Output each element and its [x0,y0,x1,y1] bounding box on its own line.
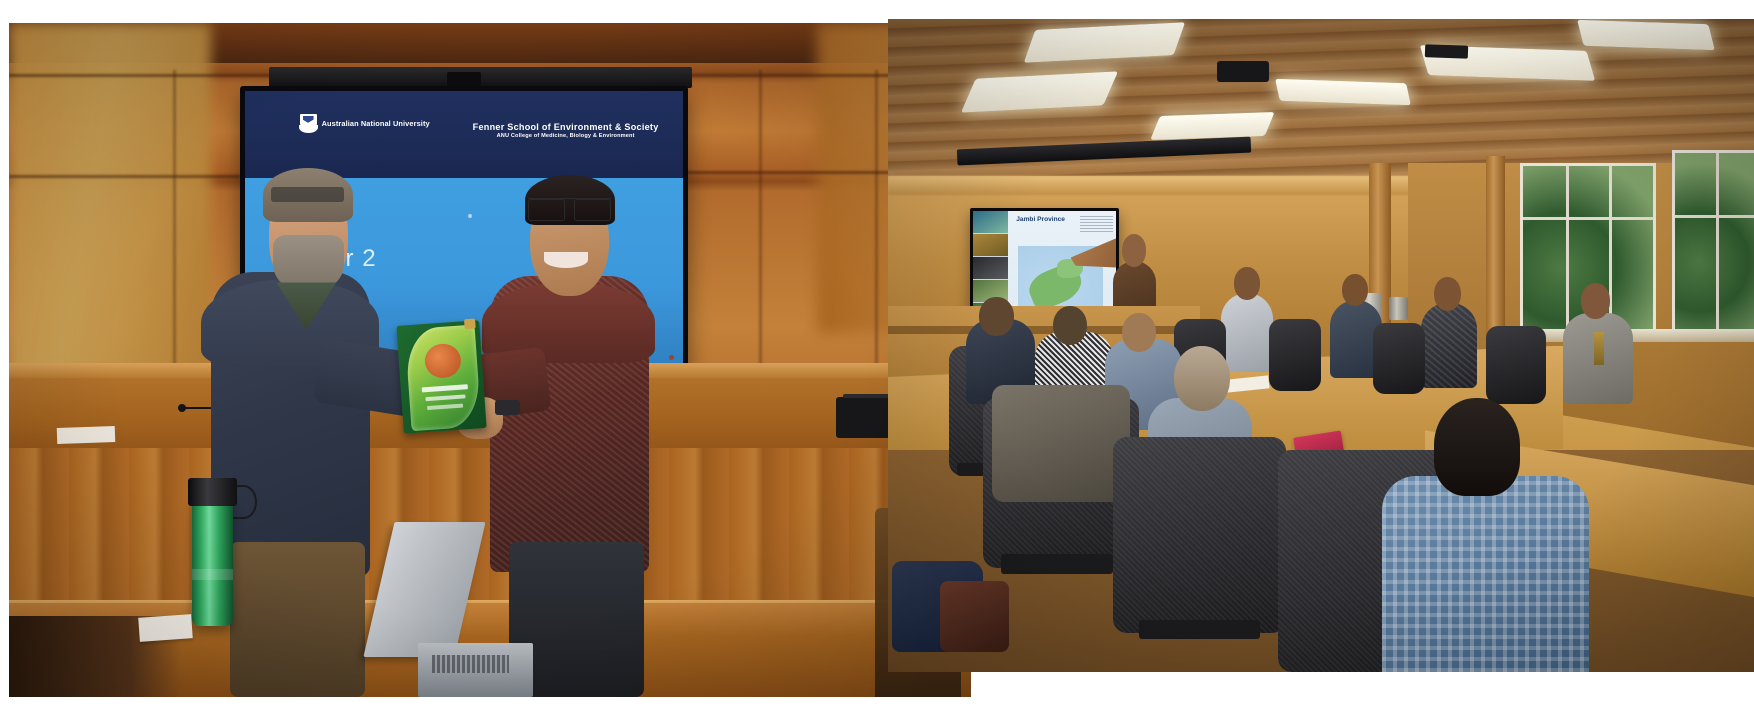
ceiling-vent [1425,44,1469,59]
glasses-icon [528,198,611,219]
award-text-line [421,384,467,392]
desk-object-cup [1389,297,1408,321]
wall-seam-vertical [759,70,762,373]
presenter-left-trousers [230,542,365,697]
paper-on-bench [57,426,115,444]
attendee-batik-body [1421,303,1477,388]
slide-text-block [1080,216,1113,234]
window-right [1672,150,1754,339]
bottle-band [192,569,233,580]
attendee-far-table-0-head [1234,267,1260,300]
slide-body-text: r 2 [346,245,377,273]
bottle-cap [188,478,237,506]
window-sill [1512,329,1754,342]
attendee-check-shirt-head [1122,313,1157,352]
office-chair [1373,323,1425,395]
slide-thumbnail [973,234,1007,257]
wall-seam [9,175,240,178]
chair-base [1139,620,1260,640]
attendee-grey-jacket-head [1581,283,1610,318]
school-title: Fenner School of Environment & Society [473,122,659,132]
ceiling-projector [1217,61,1269,82]
attendee-foreground-head [1434,398,1521,496]
attendee-far-table-1-head [1342,274,1368,307]
photo-pair-stage: Australian National University Fenner Sc… [0,0,1754,715]
bag-on-floor [940,581,1009,653]
slide-school-heading: Fenner School of Environment & Society A… [473,122,659,139]
garden-view [1675,153,1754,336]
office-chair [1113,437,1286,633]
water-bottle [192,498,233,626]
attendee-back-left-head [979,297,1014,336]
laptop-keyboard [432,655,509,673]
ceiling-light-panel [1577,20,1715,51]
award-plaque [396,320,486,433]
display-power-led [669,355,674,360]
slide-title: Jambi Province [1016,216,1065,223]
presenter-standing-head [1122,234,1146,267]
award-emblem [424,342,462,379]
sunglasses-icon [271,187,344,202]
photo-seminar-audience: Jambi Province [888,19,1754,672]
anu-logo: Australian National University [300,114,430,134]
necktie [1594,332,1604,365]
attendee-foreground-body [1382,476,1590,672]
attendee-houndstooth-head [1053,306,1088,345]
chair-base [1001,554,1114,574]
office-chair [1269,319,1321,391]
photo-award-presentation: Australian National University Fenner Sc… [9,23,971,697]
award-text-line [427,404,463,410]
award-glass-leaf [404,325,480,431]
wall-seam-vertical [173,70,176,373]
anu-crest-icon [300,114,317,134]
school-subtitle: ANU College of Medicine, Biology & Envir… [473,133,659,139]
coat-over-chair [992,385,1131,503]
slide-thumbnail [973,257,1007,280]
attendee-far-table-0-body [1221,293,1273,371]
wall-light-glow-left [9,23,211,414]
wall-seam-vertical [875,70,878,373]
office-chair [1486,326,1547,404]
paper-on-desk [138,614,192,642]
attendee-batik-head [1434,277,1462,311]
award-text-line [424,395,464,402]
wristwatch [495,400,520,415]
ceiling-light-panel [1151,112,1275,139]
award-case-clip [463,318,475,328]
attendee-grey-hair-head [1174,346,1230,411]
anu-logo-text: Australian National University [322,120,430,128]
slide-thumbnail [973,211,1007,234]
